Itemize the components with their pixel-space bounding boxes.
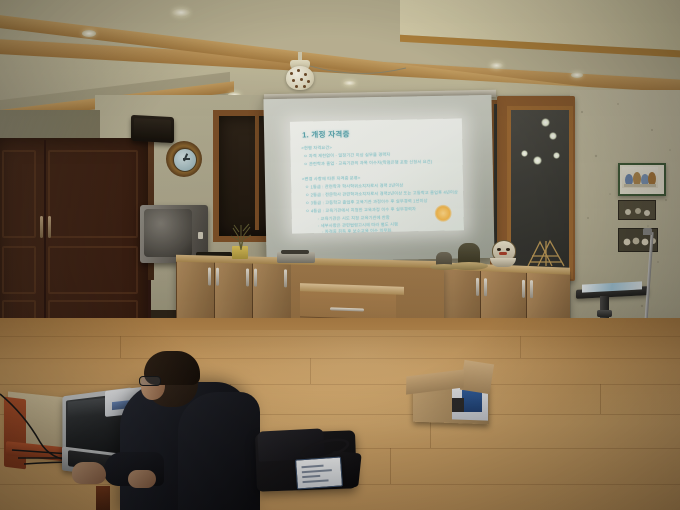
hat-brim: [450, 262, 488, 270]
slide-line: ㅇ 2등급 : 전문학사 관련학과소지자로서 경력2년이상 또는 고등학교 졸업…: [305, 189, 458, 198]
slide-line: <변경 사항에 따른 자격증 분류>: [302, 175, 361, 182]
downlight-icon: [82, 30, 96, 37]
framed-photo: [618, 200, 656, 220]
person-hand: [72, 462, 106, 484]
speaker-grille: [134, 118, 171, 139]
table-leg: [96, 486, 110, 510]
light-reflection: [553, 152, 560, 159]
light-reflection: [541, 118, 550, 127]
straw-craft: [524, 236, 570, 268]
television-screen: [144, 209, 192, 257]
person-shoulder: [178, 392, 260, 510]
window-center-sash: [255, 110, 259, 230]
television-power-button[interactable]: [198, 232, 203, 239]
room-photo: 1. 개정 자격증 <현행 자격요건> ㅇ 자격 제한없이 - 일정기간 이상 …: [0, 0, 680, 510]
light-reflection: [521, 150, 528, 157]
slide-title: 1. 개정 자격증: [302, 129, 350, 141]
slide-line: <현행 자격요건>: [301, 145, 332, 152]
light-reflection: [549, 132, 557, 140]
product-box-graphic: [452, 398, 464, 412]
downlight-icon: [490, 62, 503, 69]
lamp-wire: [310, 64, 406, 84]
downlight-icon: [571, 72, 583, 78]
light-reflection: [533, 156, 542, 165]
printer-top: [281, 250, 309, 254]
slide-line: ㅇ 관련학과 졸업 - 교육기관의 과목 이수자(학점은행 포함 신청서 요건): [304, 159, 433, 167]
person-hand: [128, 470, 156, 488]
cart-height-knob[interactable]: [597, 310, 612, 317]
eyeglasses-icon: [139, 376, 161, 386]
slide-line: ㅇ 자격 제한없이 - 일정기간 이상 실무를 경력자: [304, 152, 391, 160]
mask-mouth: [499, 252, 507, 255]
slide-line: ㅇ 3등급 : 고등학교 졸업후 교육기관 과정이수 후 실무경력 1년이상: [305, 198, 427, 206]
box-flap: [460, 360, 494, 394]
slide-line: - 자격증 취득 후 보수교육 이수 의무화: [322, 228, 392, 234]
pointer-tip: [643, 228, 652, 235]
downlight-icon: [172, 8, 190, 17]
slide-line: ㅇ 4등급 : 교육기관에서 지정한 교육과정 이수 후 실무경력자: [306, 206, 416, 214]
picture-content: [622, 167, 658, 188]
clock-hand-minute: [183, 158, 190, 160]
name-card: [295, 456, 343, 489]
projection-screen: 1. 개정 자격증 <현행 자격요건> ㅇ 자격 제한없이 - 일정기간 이상 …: [263, 95, 494, 262]
plant-foliage: [224, 222, 258, 250]
wardrobe-handle[interactable]: [48, 216, 51, 238]
projected-slide: 1. 개정 자격증 <현행 자격요건> ㅇ 자격 제한없이 - 일정기간 이상 …: [290, 118, 464, 233]
product-box-graphic: [462, 390, 482, 412]
slide-sun-graphic: [435, 205, 452, 222]
wardrobe-handle[interactable]: [40, 216, 43, 238]
wardrobe-center-seam: [44, 140, 46, 348]
slide-line: ㅇ 1등급 : 관련학과 학사학위소지자로서 경력 2년이상: [305, 183, 403, 191]
